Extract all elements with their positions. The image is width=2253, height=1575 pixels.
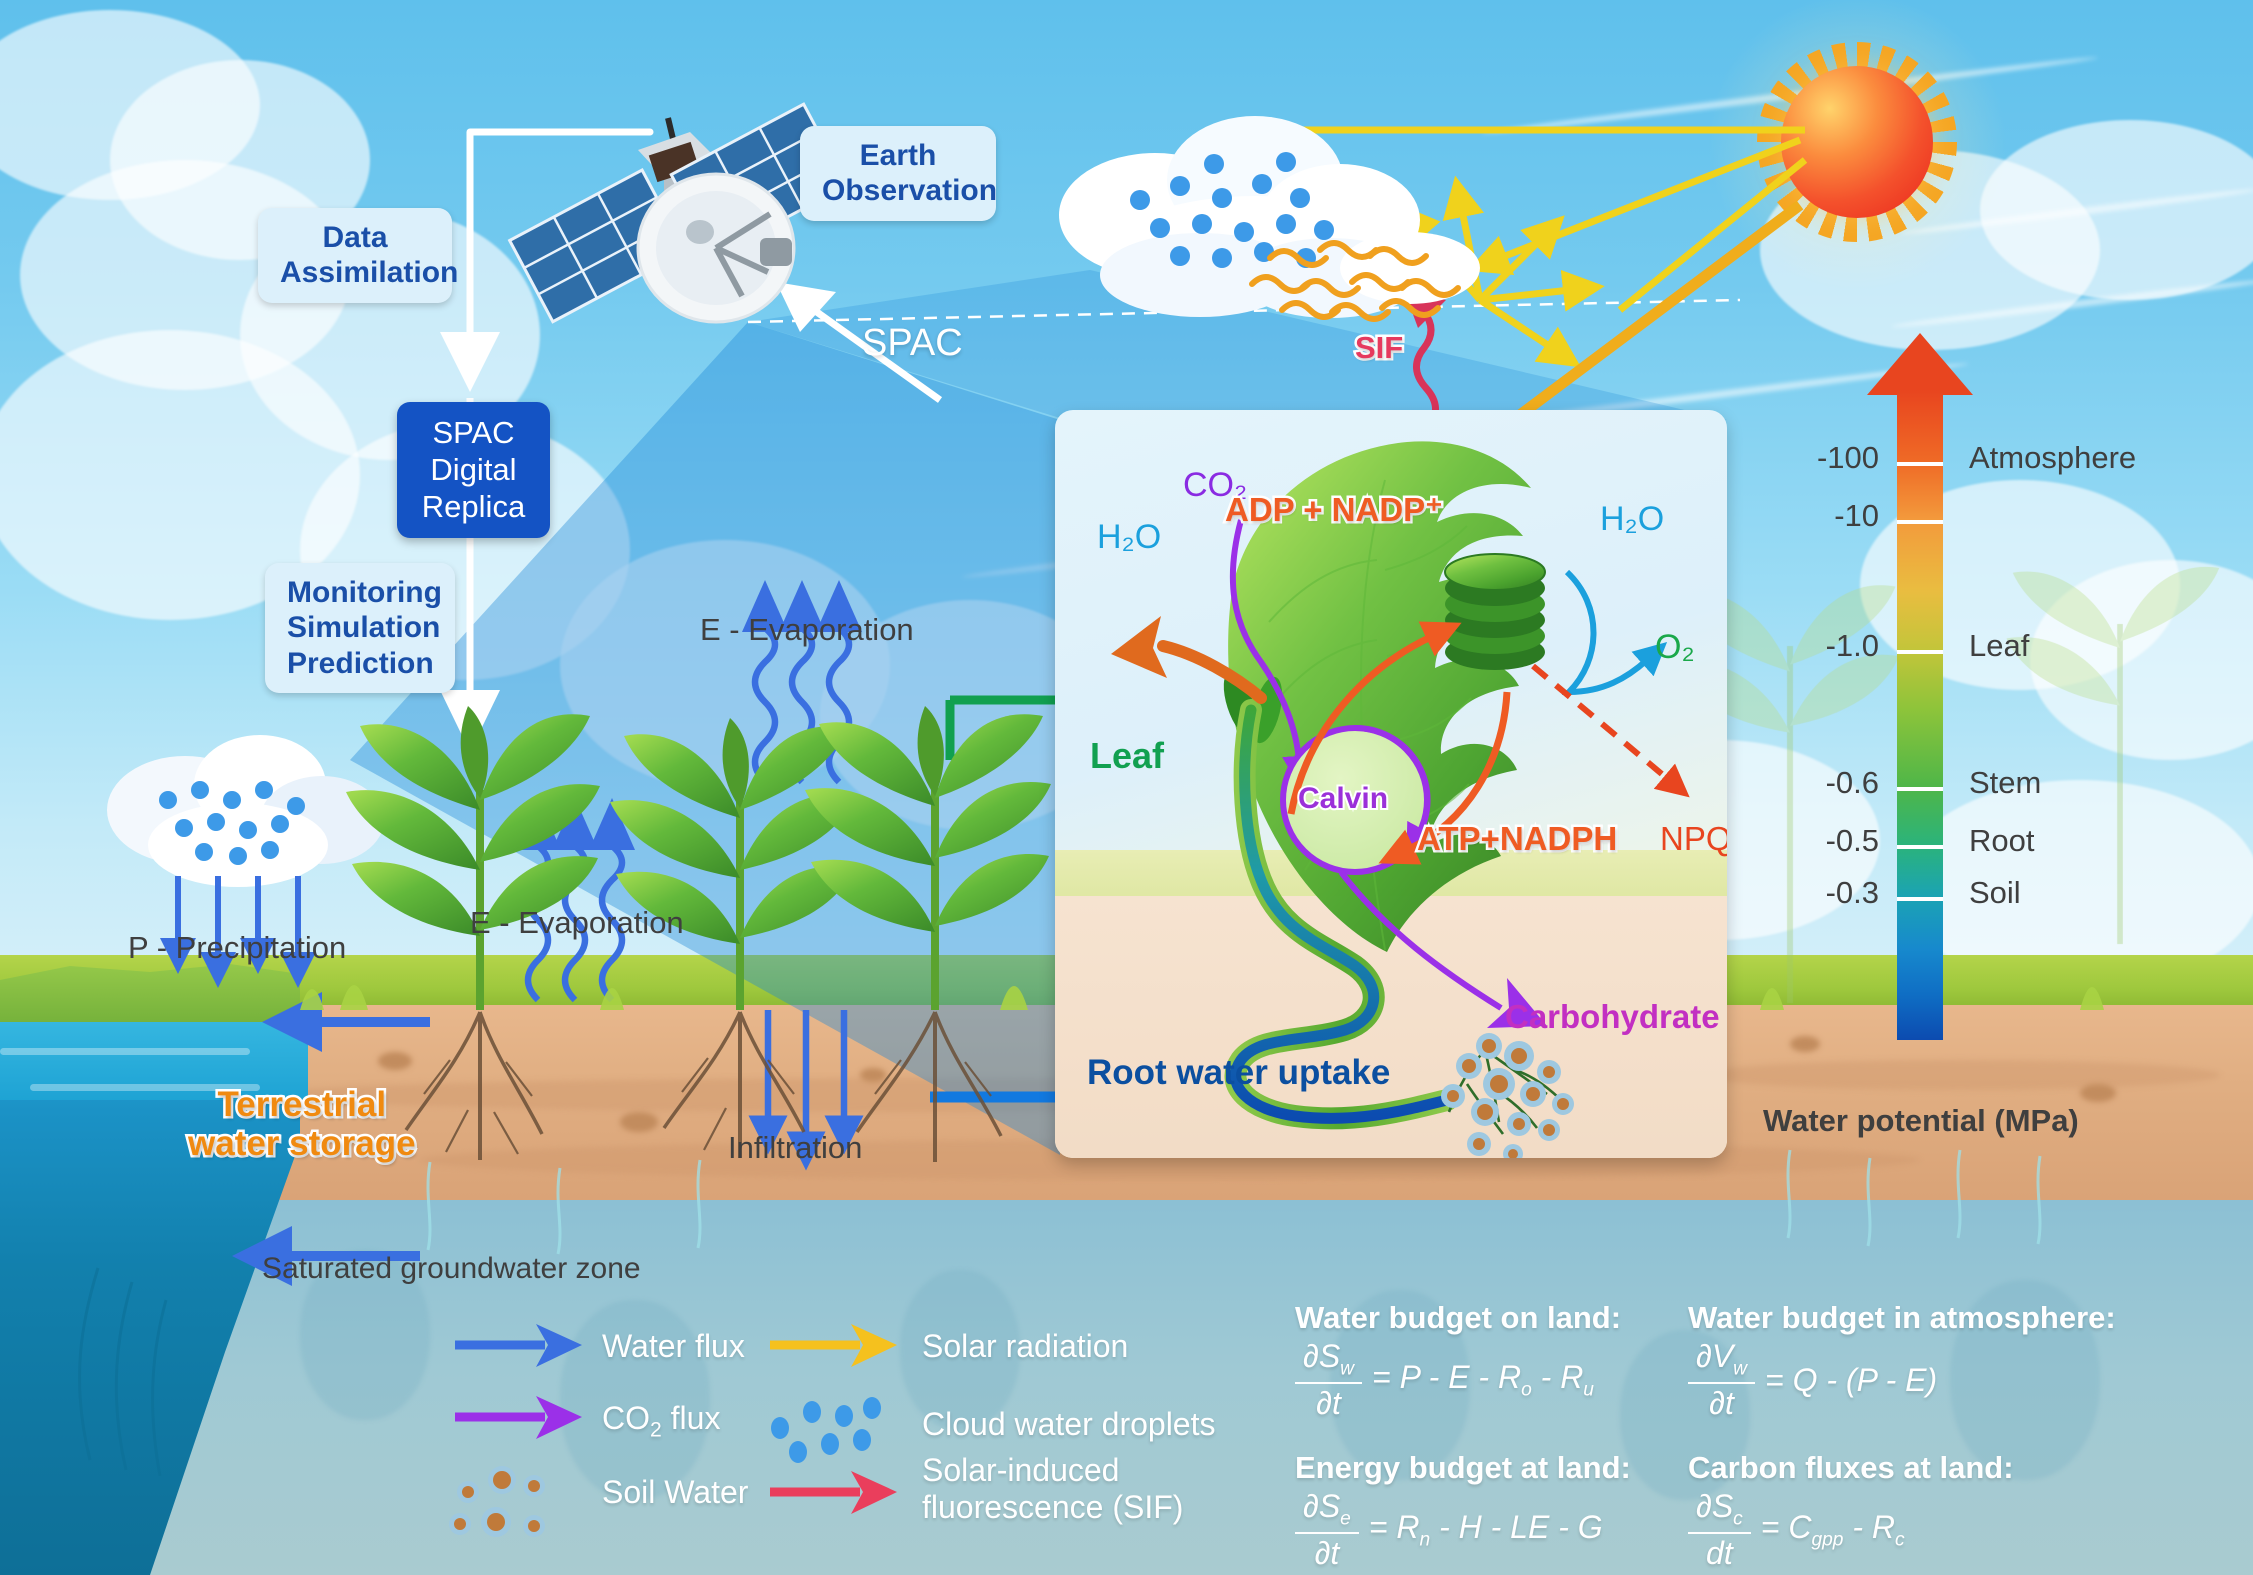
- spac-replica-line1: SPAC: [419, 414, 528, 451]
- equation-energy-budget-land: Energy budget at land:∂Se∂t= Rn - H - LE…: [1295, 1450, 1631, 1570]
- legend-sif-line1: Solar-induced: [922, 1452, 1183, 1489]
- equation-title: Energy budget at land:: [1295, 1450, 1631, 1486]
- root-water-uptake-label: Root water uptake: [1087, 1053, 1390, 1093]
- lake-ripple: [0, 1048, 250, 1055]
- equation-body: ∂Scdt= Cgpp - Rc: [1688, 1490, 2014, 1570]
- legend-label-cloud-droplets: Cloud water droplets: [922, 1406, 1215, 1443]
- grana-stack: [1445, 554, 1545, 670]
- atp-nadph-label: ATP+NADPH: [1417, 820, 1617, 858]
- colorbar-tick-line: [1897, 787, 1943, 791]
- soil-pebble: [1790, 1036, 1820, 1052]
- colorbar-tick-value: -0.6: [1759, 765, 1879, 801]
- data-assimilation-box[interactable]: Data Assimilation: [258, 208, 452, 303]
- o2-label: O₂: [1655, 628, 1695, 667]
- carbohydrate-label: Carbohydrate: [1505, 998, 1720, 1036]
- root-cluster: [1441, 1033, 1574, 1158]
- tws-line2: water storage: [188, 1124, 416, 1163]
- earth-observation-label-line1: Earth: [822, 138, 974, 173]
- leaf-label: Leaf: [1090, 735, 1164, 777]
- evaporation-label-upper: E - Evaporation: [700, 612, 914, 648]
- calvin-cycle-label: Calvin: [1298, 782, 1388, 816]
- legend-sif-line2: fluorescence (SIF): [922, 1489, 1183, 1526]
- soil-pebble: [860, 1068, 886, 1082]
- equation-title: Water budget on land:: [1295, 1300, 1621, 1336]
- leaf-process-panel: H₂O CO₂ ADP + NADP⁺ H₂O O₂ ATP+NADPH NPQ…: [1055, 410, 1727, 1158]
- equation-title: Carbon fluxes at land:: [1688, 1450, 2014, 1486]
- spac-replica-line3: Replica: [419, 488, 528, 525]
- h2o-left-label: H₂O: [1097, 518, 1161, 557]
- soil-pebble: [2080, 1084, 2116, 1102]
- soil-pebble: [620, 1112, 658, 1132]
- colorbar-tick-value: -10: [1759, 498, 1879, 534]
- colorbar-tick-value: -0.5: [1759, 823, 1879, 859]
- spac-pointer-label: SPAC: [862, 322, 963, 365]
- water-potential-colorbar: [1897, 390, 1943, 1040]
- colorbar-tick-line: [1897, 520, 1943, 524]
- monitoring-line1: Monitoring: [287, 575, 433, 610]
- spac-digital-replica-box[interactable]: SPAC Digital Replica: [397, 402, 550, 538]
- monitoring-simulation-box[interactable]: Monitoring Simulation Prediction: [265, 563, 455, 693]
- earth-observation-label-line2: Observation: [822, 173, 974, 208]
- colorbar-tick-line: [1897, 845, 1943, 849]
- sif-label: SIF: [1355, 330, 1403, 366]
- equation-title: Water budget in atmosphere:: [1688, 1300, 2116, 1336]
- legend-label-co2-flux: CO2 flux: [602, 1400, 720, 1443]
- equation-water-budget-land: Water budget on land:∂Sw∂t= P - E - Ro -…: [1295, 1300, 1621, 1420]
- figure-canvas: Data Assimilation Earth Observation SPAC…: [0, 0, 2253, 1575]
- soil-pebble: [378, 1052, 412, 1070]
- colorbar-title: Water potential (MPa): [1763, 1103, 2079, 1139]
- monitoring-line2: Simulation: [287, 610, 433, 645]
- soil-texture: [1700, 1060, 2220, 1090]
- colorbar-zone-label: Atmosphere: [1969, 440, 2136, 476]
- adp-nadp-label: ADP + NADP⁺: [1225, 490, 1443, 529]
- colorbar-arrowhead: [1867, 333, 1973, 395]
- terrestrial-water-storage-label: Terrestrial water storage: [188, 1085, 416, 1163]
- colorbar-tick-value: -100: [1759, 440, 1879, 476]
- earth-observation-box[interactable]: Earth Observation: [800, 126, 996, 221]
- sun-icon: [1757, 42, 1957, 242]
- colorbar-tick-value: -1.0: [1759, 628, 1879, 664]
- colorbar-zone-label: Stem: [1969, 765, 2041, 801]
- evaporation-label-lower: E - Evaporation: [470, 905, 684, 941]
- colorbar-tick-line: [1897, 897, 1943, 901]
- equation-body: ∂Vw∂t= Q - (P - E): [1688, 1340, 2116, 1420]
- tws-line1: Terrestrial: [188, 1085, 416, 1124]
- legend-label-solar-radiation: Solar radiation: [922, 1328, 1128, 1365]
- npq-label: NPQ: [1660, 820, 1727, 858]
- equation-body: ∂Se∂t= Rn - H - LE - G: [1295, 1490, 1631, 1570]
- legend-label-soil-water: Soil Water: [602, 1474, 748, 1511]
- data-assimilation-label-line2: Assimilation: [280, 255, 430, 290]
- colorbar-zone-label: Root: [1969, 823, 2034, 859]
- equation-water-budget-atmosphere: Water budget in atmosphere:∂Vw∂t= Q - (P…: [1688, 1300, 2116, 1420]
- equation-body: ∂Sw∂t= P - E - Ro - Ru: [1295, 1340, 1621, 1420]
- colorbar-tick-value: -0.3: [1759, 875, 1879, 911]
- data-assimilation-label-line1: Data: [280, 220, 430, 255]
- saturated-zone-label: Saturated groundwater zone: [262, 1252, 641, 1286]
- equation-carbon-fluxes-land: Carbon fluxes at land:∂Scdt= Cgpp - Rc: [1688, 1450, 2014, 1570]
- colorbar-zone-label: Leaf: [1969, 628, 2029, 664]
- monitoring-line3: Prediction: [287, 646, 433, 681]
- legend-label-sif: Solar-induced fluorescence (SIF): [922, 1452, 1183, 1526]
- spac-replica-line2: Digital: [419, 451, 528, 488]
- infiltration-label: Infiltration: [728, 1130, 862, 1166]
- colorbar-zone-label: Soil: [1969, 875, 2021, 911]
- colorbar-tick-line: [1897, 462, 1943, 466]
- legend-label-water-flux: Water flux: [602, 1328, 745, 1365]
- precipitation-label: P - Precipitation: [128, 930, 346, 966]
- colorbar-tick-line: [1897, 650, 1943, 654]
- h2o-right-label: H₂O: [1600, 500, 1664, 539]
